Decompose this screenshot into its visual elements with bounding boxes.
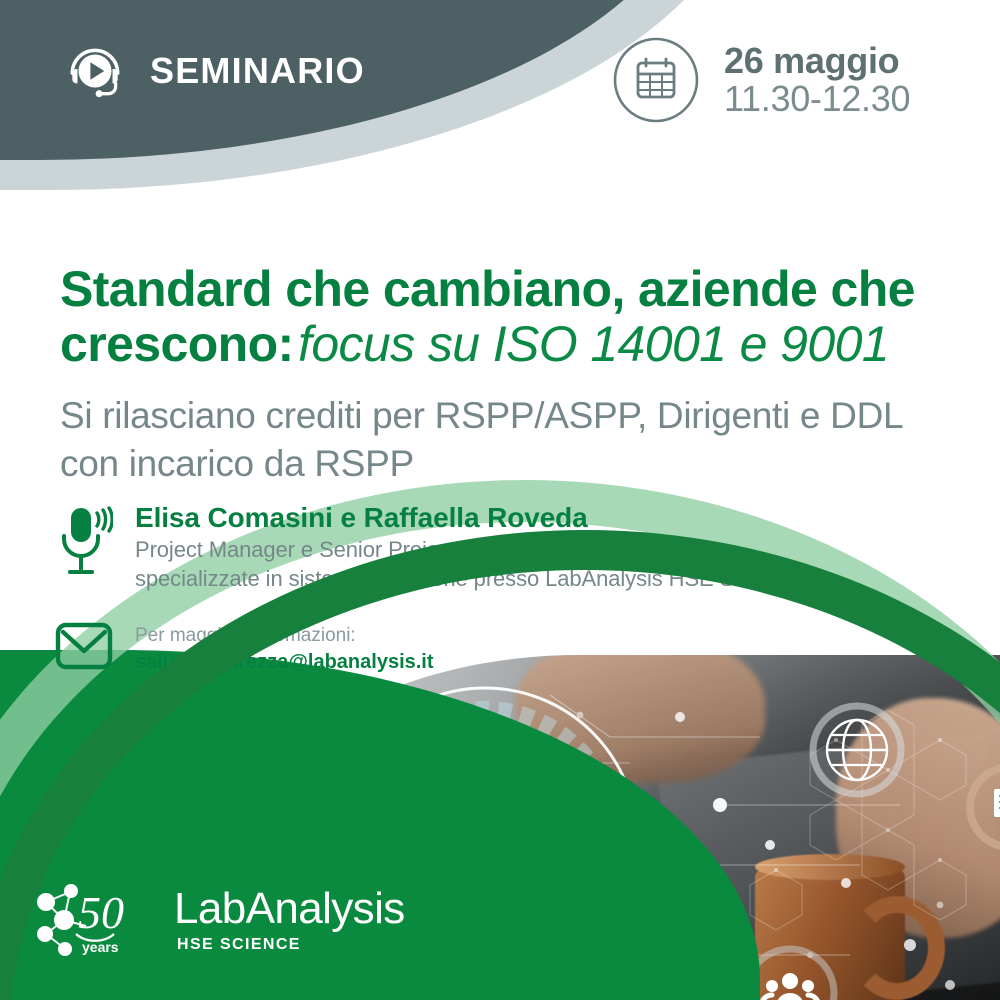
speaker-role-line2: specializzate in sistemi di gestione pre… bbox=[135, 565, 797, 594]
date-day: 26 maggio bbox=[724, 42, 910, 80]
speaker-names: Elisa Comasini e Raffaella Roveda bbox=[135, 502, 797, 534]
contact-label: Per maggiori informazioni: bbox=[135, 624, 434, 649]
globe-icon bbox=[813, 706, 901, 794]
contact-block: Per maggiori informazioni: salute.sicure… bbox=[55, 622, 434, 675]
seminar-badge-label: SEMINARIO bbox=[150, 50, 365, 92]
calendar-icon bbox=[612, 36, 700, 124]
contact-email[interactable]: salute.sicurezza@labanalysis.it bbox=[135, 649, 434, 675]
seminar-badge: SEMINARIO bbox=[62, 38, 365, 104]
date-block: 26 maggio 11.30-12.30 bbox=[612, 36, 910, 124]
subtitle: Si rilasciano crediti per RSPP/ASPP, Dir… bbox=[60, 392, 960, 488]
logo-subtitle: HSE SCIENCE bbox=[177, 936, 405, 954]
title-italic: focus su ISO 14001 e 9001 bbox=[298, 316, 889, 372]
page-title: Standard che cambiano, aziende che cresc… bbox=[60, 262, 990, 372]
date-time: 11.30-12.30 bbox=[724, 80, 910, 118]
50-years-molecule-icon: 50 years bbox=[30, 880, 158, 958]
svg-text:50: 50 bbox=[78, 887, 124, 938]
speaker-role-line1: Project Manager e Senior Project Manager… bbox=[135, 536, 797, 565]
envelope-icon bbox=[55, 622, 113, 670]
seminar-poster: SEMINARIO 26 maggio 11.30-12.30 Standard… bbox=[0, 0, 1000, 1000]
labanalysis-logo: 50 years LabAnalysis HSE SCIENCE bbox=[30, 880, 405, 958]
microphone-icon bbox=[55, 500, 113, 593]
logo-name: LabAnalysis bbox=[174, 887, 405, 931]
svg-text:years: years bbox=[82, 939, 119, 955]
headset-play-icon bbox=[62, 38, 128, 104]
monitor-icon bbox=[970, 767, 1000, 847]
speakers-block: Elisa Comasini e Raffaella Roveda Projec… bbox=[55, 500, 955, 593]
